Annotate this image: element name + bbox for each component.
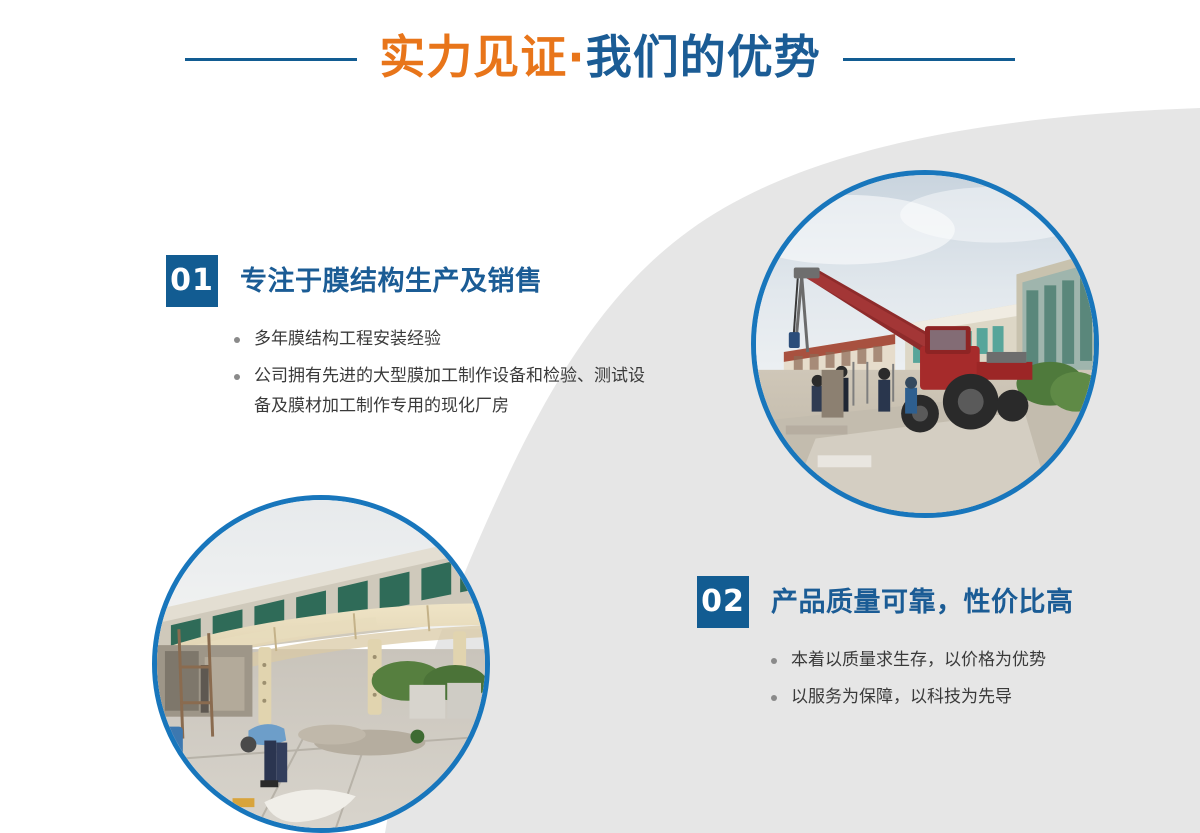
- section-header: 实力见证·我们的优势: [0, 0, 1200, 118]
- list-item-text: 本着以质量求生存，以价格为优势: [791, 650, 1046, 670]
- page-title-accent: 实力见证: [379, 30, 567, 84]
- page-title: 实力见证·我们的优势: [379, 34, 820, 84]
- page-title-separator: ·: [567, 30, 585, 84]
- list-item: 公司拥有先进的大型膜加工制作设备和检验、测试设备及膜材加工制作专用的现化厂房: [230, 362, 650, 422]
- bullet-dot-icon: [234, 374, 240, 380]
- header-rule-left: [185, 58, 357, 61]
- list-item-text: 以服务为保障，以科技为先导: [791, 687, 1012, 707]
- bullet-dot-icon: [234, 337, 240, 343]
- feature-02-title: 产品质量可靠，性价比高: [771, 589, 1074, 616]
- feature-01-bullet-list: 多年膜结构工程安装经验 公司拥有先进的大型膜加工制作设备和检验、测试设备及膜材加…: [230, 325, 650, 421]
- feature-02-number-badge: 02: [697, 576, 749, 628]
- photo-construction-site-crane-tractor: [751, 170, 1099, 518]
- list-item-text: 多年膜结构工程安装经验: [254, 329, 441, 349]
- feature-01-head: 01 专注于膜结构生产及销售: [166, 255, 650, 307]
- photo-graphic-crane: [756, 175, 1094, 513]
- feature-01-number-badge: 01: [166, 255, 218, 307]
- page-title-main: 我们的优势: [586, 30, 821, 84]
- bullet-dot-icon: [771, 695, 777, 701]
- list-item-text: 公司拥有先进的大型膜加工制作设备和检验、测试设备及膜材加工制作专用的现化厂房: [254, 366, 645, 416]
- bullet-dot-icon: [771, 658, 777, 664]
- feature-block-01: 01 专注于膜结构生产及销售 多年膜结构工程安装经验 公司拥有先进的大型膜加工制…: [166, 255, 650, 428]
- feature-01-title: 专注于膜结构生产及销售: [240, 268, 543, 295]
- feature-02-bullet-list: 本着以质量求生存，以价格为优势 以服务为保障，以科技为先导: [767, 646, 1074, 713]
- photo-graphic-canopy: [157, 500, 485, 828]
- feature-02-head: 02 产品质量可靠，性价比高: [697, 576, 1074, 628]
- list-item: 本着以质量求生存，以价格为优势: [767, 646, 1074, 676]
- header-rule-right: [843, 58, 1015, 61]
- feature-block-02: 02 产品质量可靠，性价比高 本着以质量求生存，以价格为优势 以服务为保障，以科…: [697, 576, 1074, 720]
- list-item: 多年膜结构工程安装经验: [230, 325, 650, 355]
- promo-banner: 实力见证·我们的优势: [0, 0, 1200, 833]
- list-item: 以服务为保障，以科技为先导: [767, 683, 1074, 713]
- photo-membrane-canopy-installation: [152, 495, 490, 833]
